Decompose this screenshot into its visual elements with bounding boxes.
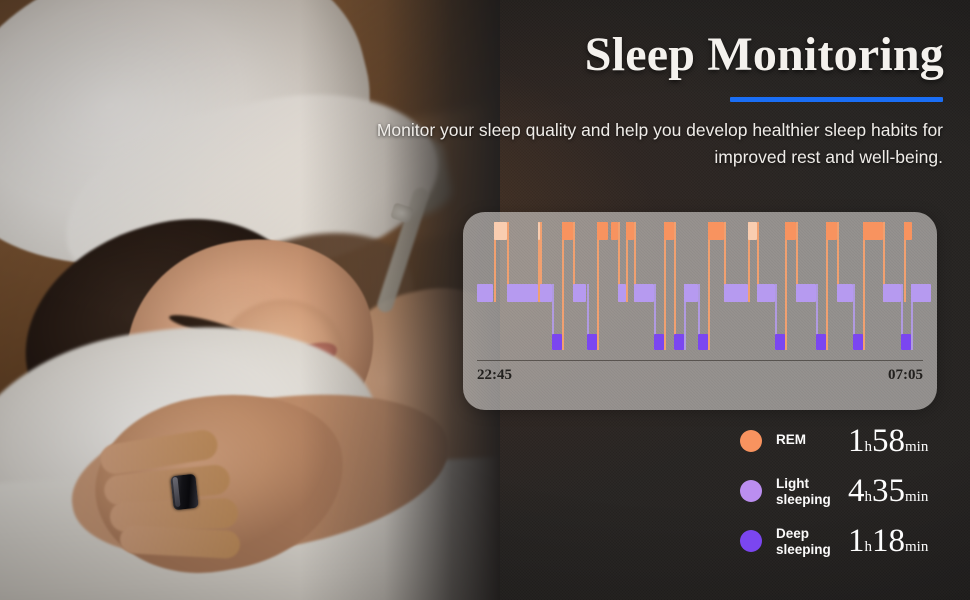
end-time-label: 07:05 [888, 367, 923, 384]
hypnogram-segment-light [618, 284, 626, 302]
hypnogram-segment-light [573, 284, 586, 302]
hypnogram-segment-light [837, 284, 853, 302]
accent-bar [730, 97, 943, 102]
legend-dot-rem-icon [740, 430, 762, 452]
hypnogram-segment-light [883, 284, 901, 302]
hypnogram-segment-light [540, 284, 552, 302]
hypnogram-segment-rem [863, 222, 883, 240]
legend-row-deep: Deep sleeping1h18min [740, 524, 950, 564]
start-time-label: 22:45 [477, 367, 512, 384]
time-axis [477, 360, 923, 361]
stage-connector [597, 222, 599, 350]
legend-dot-light-icon [740, 480, 762, 502]
legend-duration-deep: 1h18min [848, 523, 928, 560]
hypnogram-segment-light [634, 284, 654, 302]
legend-duration-light: 4h35min [848, 473, 928, 510]
legend-row-rem: REM1h58min [740, 424, 950, 464]
hypnogram-segment-deep [853, 334, 863, 350]
hypnogram-plot [477, 222, 923, 350]
legend-duration-rem: 1h58min [848, 423, 928, 460]
hypnogram-segment-rem [785, 222, 796, 240]
legend-label-rem: REM [776, 432, 838, 448]
legend-label-deep: Deep sleeping [776, 526, 838, 558]
stage-connector [826, 222, 828, 350]
sleep-monitoring-banner: Sleep Monitoring Monitor your sleep qual… [0, 0, 970, 600]
hypnogram-segment-rem [664, 222, 674, 240]
hypnogram-segment-light [724, 284, 748, 302]
hypnogram-segment-deep [698, 334, 708, 350]
hypnogram-segment-light [796, 284, 816, 302]
hypnogram-segment-rem [611, 222, 618, 240]
hypnogram-segment-deep [901, 334, 911, 350]
stage-connector [785, 222, 787, 350]
stage-connector [674, 222, 676, 350]
stage-connector [562, 222, 564, 350]
hypnogram-segment-rem [904, 222, 912, 240]
hypnogram-segment-deep [816, 334, 826, 350]
hypnogram-segment-rem [708, 222, 724, 240]
hypnogram-segment-light [684, 284, 698, 302]
page-title: Sleep Monitoring [585, 27, 944, 82]
sleep-stage-legend: REM1h58minLight sleeping4h35minDeep slee… [740, 424, 950, 574]
hypnogram-segment-rem [562, 222, 573, 240]
legend-label-light: Light sleeping [776, 476, 838, 508]
hypnogram-segment-light [757, 284, 775, 302]
hypnogram-segment-light [477, 284, 493, 302]
legend-row-light: Light sleeping4h35min [740, 474, 950, 514]
hypnogram-segment-rem [826, 222, 837, 240]
hypnogram-segment-rem [494, 222, 507, 240]
hypnogram-segment-deep [587, 334, 597, 350]
hypnogram-segment-rem [748, 222, 757, 240]
sleep-chart-card: 22:45 07:05 [463, 212, 937, 410]
hypnogram-segment-rem [626, 222, 634, 240]
hypnogram-segment-rem [597, 222, 608, 240]
hypnogram-segment-light [911, 284, 931, 302]
legend-dot-deep-icon [740, 530, 762, 552]
stage-connector [863, 222, 865, 350]
hypnogram-segment-rem [538, 222, 540, 240]
hypnogram-segment-deep [654, 334, 664, 350]
stage-connector [664, 222, 666, 350]
stage-connector [708, 222, 710, 350]
hypnogram-segment-light [507, 284, 538, 302]
hypnogram-segment-deep [552, 334, 562, 350]
hypnogram-segment-deep [775, 334, 785, 350]
page-subtitle: Monitor your sleep quality and help you … [363, 117, 943, 171]
hypnogram-segment-deep [674, 334, 684, 350]
